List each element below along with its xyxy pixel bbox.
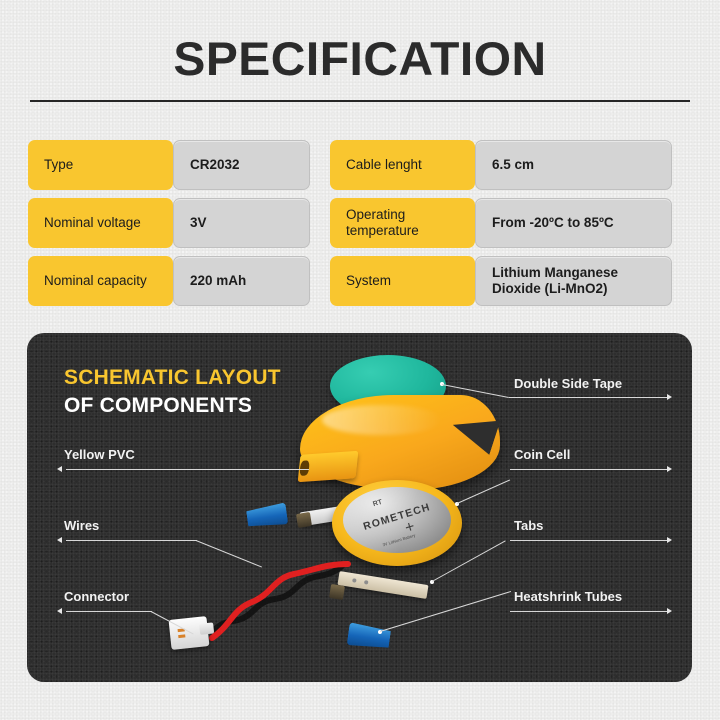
spec-value: Lithium Manganese Dioxide (Li-MnO2): [475, 256, 672, 306]
spec-value: From -20ºC to 85ºC: [475, 198, 672, 248]
callout-leader: [510, 469, 669, 470]
spec-label: Operating temperature: [330, 198, 475, 248]
callout-label: Coin Cell: [514, 447, 570, 462]
pvc-sleeve: [298, 451, 359, 482]
callout-label: Yellow PVC: [64, 447, 135, 462]
callout-label: Heatshrink Tubes: [514, 589, 622, 604]
spec-value: CR2032: [173, 140, 310, 190]
callout-arrow-tip: [667, 608, 672, 614]
column-gap: [310, 198, 330, 248]
pvc-highlight: [322, 405, 442, 435]
schematic-heading-line2: OF COMPONENTS: [64, 392, 281, 420]
spec-label: Cable lenght: [330, 140, 475, 190]
spec-label: Nominal capacity: [28, 256, 173, 306]
spec-value: 220 mAh: [173, 256, 310, 306]
callout-arrow-tip: [57, 466, 62, 472]
callout-label: Connector: [64, 589, 129, 604]
coin-cell-face: RT ROMETECH + 3V Lithium Battery: [343, 487, 451, 553]
callout-leader: [510, 611, 669, 612]
connector-latch: [199, 622, 214, 634]
callout-label: Tabs: [514, 518, 543, 533]
callout-arrow-tip: [667, 537, 672, 543]
callout-arrow-tip: [57, 537, 62, 543]
coin-cell-part: RT ROMETECH + 3V Lithium Battery: [332, 480, 462, 566]
callout-arrow-tip: [57, 608, 62, 614]
spec-label: System: [330, 256, 475, 306]
coin-cell-brand: ROMETECH: [362, 501, 432, 533]
callout-leader: [66, 469, 309, 470]
spec-label: Nominal voltage: [28, 198, 173, 248]
connector-part: [169, 616, 210, 650]
schematic-heading: SCHEMATIC LAYOUT OF COMPONENTS: [64, 364, 281, 420]
column-gap: [310, 256, 330, 306]
title-divider: [30, 100, 690, 102]
spec-value: 6.5 cm: [475, 140, 672, 190]
coin-cell-fine-print: 3V Lithium Battery: [382, 532, 416, 547]
callout-arrow-tip: [667, 394, 672, 400]
coin-cell-logo: RT: [372, 499, 383, 508]
callout-leader: [66, 540, 197, 541]
spec-label: Type: [28, 140, 173, 190]
schematic-heading-line1: SCHEMATIC LAYOUT: [64, 364, 281, 392]
callout-leader: [509, 397, 669, 398]
page-title: SPECIFICATION: [0, 31, 720, 86]
callout-label: Double Side Tape: [514, 376, 622, 391]
heatshrink-tube-upper: [246, 502, 289, 529]
callout-arrow-tip: [667, 466, 672, 472]
callout-leader: [510, 540, 669, 541]
spec-value: 3V: [173, 198, 310, 248]
callout-label: Wires: [64, 518, 99, 533]
column-gap: [310, 140, 330, 190]
tab-crimp-upper: [296, 512, 312, 528]
twisted-wires-part: [202, 558, 372, 643]
specification-table: Type CR2032 Cable lenght 6.5 cm Nominal …: [28, 140, 692, 306]
callout-leader: [66, 611, 152, 612]
connector-pin: [178, 634, 185, 638]
